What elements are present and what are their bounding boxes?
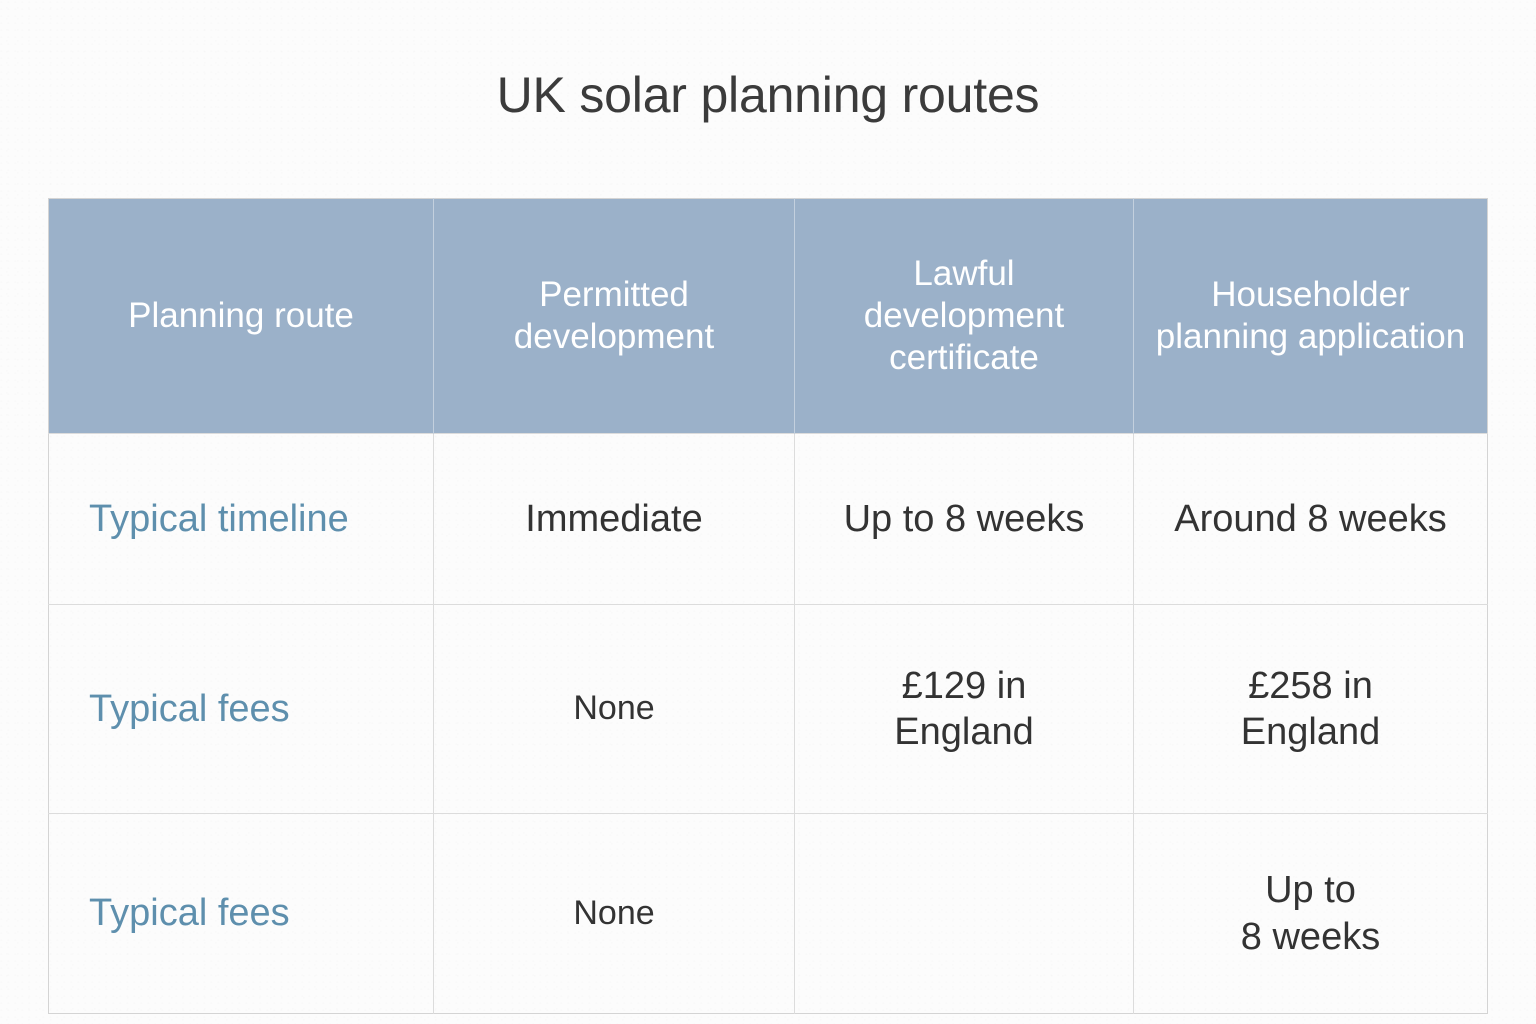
cell-line-1: Up to — [1148, 867, 1473, 913]
cell-timeline-householder-planning-application: Around 8 weeks — [1134, 434, 1488, 605]
planning-routes-table: Planning route Permitted development Law… — [48, 198, 1488, 1014]
table-row: Typical timeline Immediate Up to 8 weeks… — [49, 434, 1488, 605]
cell-fees-lawful-development-certificate: £129 in England — [795, 605, 1134, 814]
cell-fees-b-lawful-development-certificate — [795, 814, 1134, 1014]
row-label-typical-timeline: Typical timeline — [49, 434, 434, 605]
cell-line-2: England — [809, 709, 1119, 755]
cell-timeline-lawful-development-certificate: Up to 8 weeks — [795, 434, 1134, 605]
cell-line-1: £129 in — [809, 663, 1119, 709]
table-row: Typical fees None £129 in England £258 i… — [49, 605, 1488, 814]
page-title: UK solar planning routes — [0, 70, 1536, 120]
cell-line-1: £258 in — [1148, 663, 1473, 709]
row-label-typical-fees-b: Typical fees — [49, 814, 434, 1014]
table-row: Typical fees None Up to 8 weeks — [49, 814, 1488, 1014]
cell-line-2: 8 weeks — [1148, 914, 1473, 960]
column-header-planning-route: Planning route — [49, 199, 434, 434]
table-body: Typical timeline Immediate Up to 8 weeks… — [49, 434, 1488, 1014]
cell-timeline-permitted-development: Immediate — [434, 434, 795, 605]
table-header: Planning route Permitted development Law… — [49, 199, 1488, 434]
cell-fees-b-permitted-development: None — [434, 814, 795, 1014]
row-label-typical-fees-a: Typical fees — [49, 605, 434, 814]
cell-fees-householder-planning-application: £258 in England — [1134, 605, 1488, 814]
cell-fees-b-householder-planning-application: Up to 8 weeks — [1134, 814, 1488, 1014]
column-header-householder-planning-application: Householder planning application — [1134, 199, 1488, 434]
page-root: UK solar planning routes Planning route … — [0, 0, 1536, 1024]
column-header-permitted-development: Permitted development — [434, 199, 795, 434]
cell-line-2: England — [1148, 709, 1473, 755]
column-header-lawful-development-certificate: Lawful development certificate — [795, 199, 1134, 434]
table-header-row: Planning route Permitted development Law… — [49, 199, 1488, 434]
cell-fees-permitted-development: None — [434, 605, 795, 814]
